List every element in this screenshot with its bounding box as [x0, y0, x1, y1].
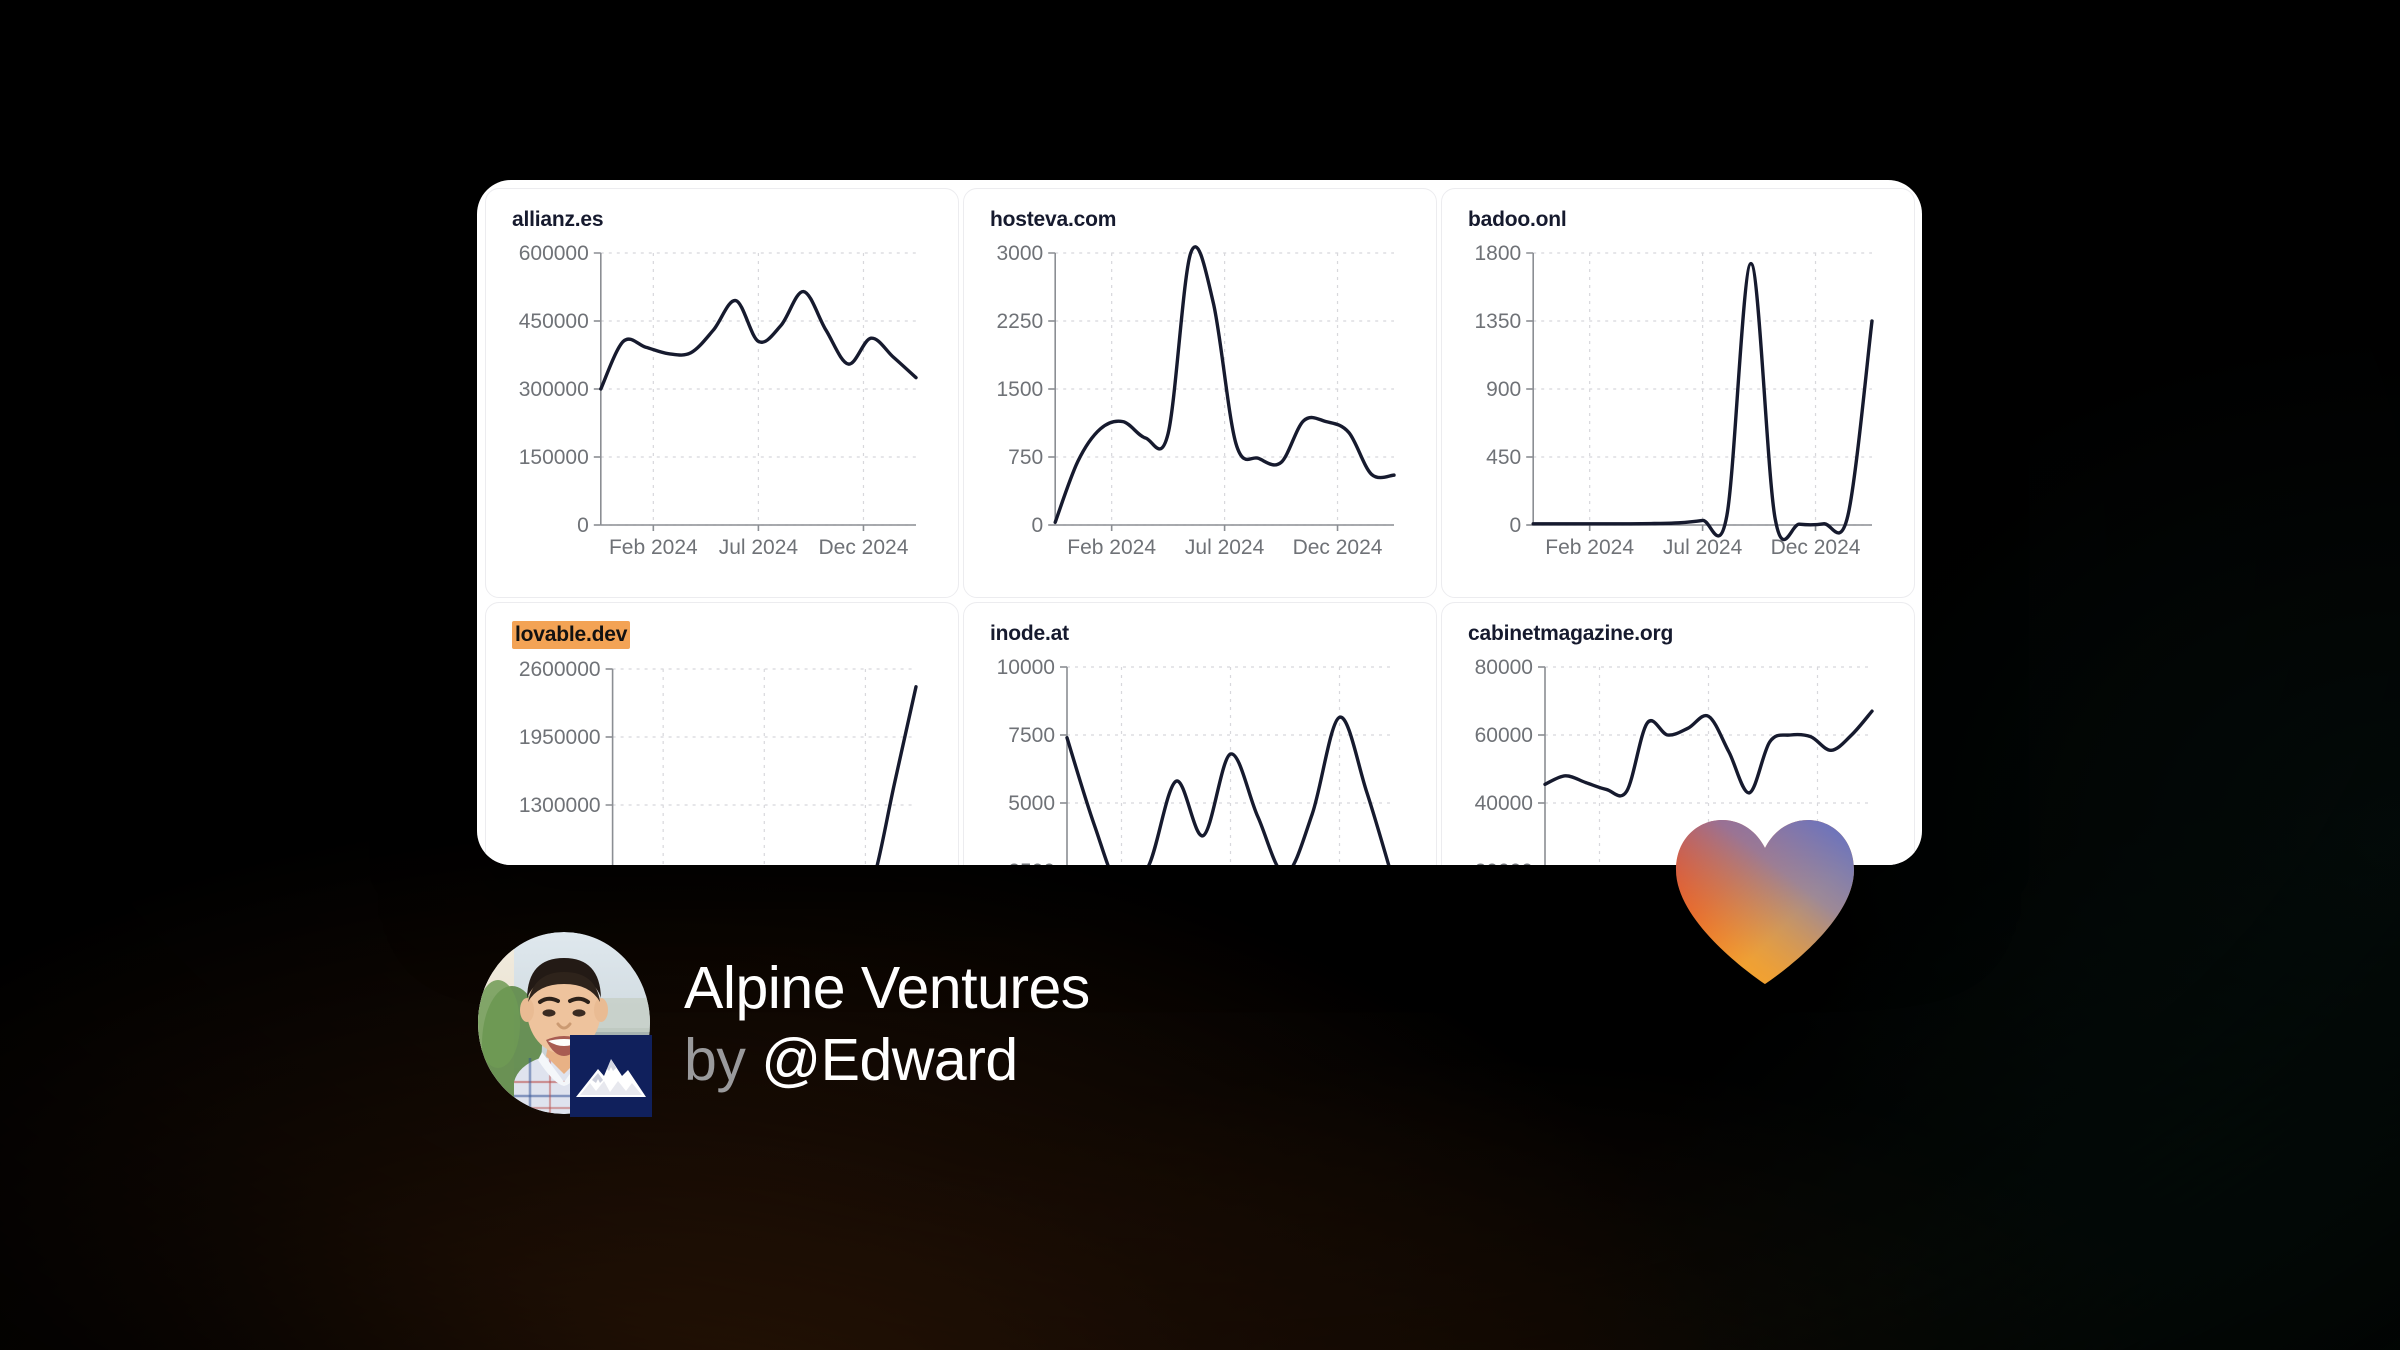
svg-text:60000: 60000 [1475, 724, 1533, 747]
svg-text:2500: 2500 [1008, 860, 1055, 865]
svg-text:Dec 2024: Dec 2024 [819, 536, 909, 559]
svg-text:Feb 2024: Feb 2024 [1545, 536, 1634, 559]
org-name: Alpine Ventures [684, 957, 1090, 1020]
chart-card[interactable]: inode.at25005000750010000Feb 2024Jul 202… [963, 602, 1437, 865]
svg-text:40000: 40000 [1475, 792, 1533, 815]
svg-text:1300000: 1300000 [519, 794, 601, 817]
byline: by @Edward [684, 1029, 1090, 1092]
chart-title: cabinetmagazine.org [1468, 621, 1673, 647]
svg-text:300000: 300000 [519, 378, 589, 401]
chart-card[interactable]: allianz.es0150000300000450000600000Feb 2… [485, 188, 959, 598]
handle: @Edward [761, 1027, 1017, 1093]
svg-text:2250: 2250 [996, 310, 1043, 333]
svg-text:Jul 2024: Jul 2024 [719, 536, 799, 559]
svg-text:450: 450 [1486, 446, 1521, 469]
chart-plot: 0150000300000450000600000Feb 2024Jul 202… [500, 241, 944, 571]
svg-text:1500: 1500 [996, 378, 1043, 401]
svg-text:900: 900 [1486, 378, 1521, 401]
svg-text:Dec 2024: Dec 2024 [1293, 536, 1383, 559]
svg-text:Jul 2024: Jul 2024 [1185, 536, 1265, 559]
by-word: by [684, 1027, 745, 1093]
svg-text:650000: 650000 [531, 862, 601, 865]
chart-plot: 045090013501800Feb 2024Jul 2024Dec 2024 [1456, 241, 1900, 571]
dashboard-panel: allianz.es0150000300000450000600000Feb 2… [477, 180, 1922, 865]
chart-grid: allianz.es0150000300000450000600000Feb 2… [477, 180, 1922, 865]
chart-title: allianz.es [512, 207, 603, 233]
svg-text:2600000: 2600000 [519, 658, 601, 681]
svg-text:1800: 1800 [1474, 242, 1521, 265]
svg-text:1350: 1350 [1474, 310, 1521, 333]
chart-plot: 25005000750010000Feb 2024Jul 2024Dec 202… [978, 655, 1422, 865]
chart-title: inode.at [990, 621, 1069, 647]
svg-text:1950000: 1950000 [519, 726, 601, 749]
svg-text:5000: 5000 [1008, 792, 1055, 815]
chart-title: hosteva.com [990, 207, 1116, 233]
chart-plot: 650000130000019500002600000Feb 2024Jul 2… [500, 657, 944, 865]
svg-text:3000: 3000 [996, 242, 1043, 265]
svg-text:0: 0 [1032, 514, 1044, 537]
svg-text:0: 0 [1510, 514, 1522, 537]
svg-text:750: 750 [1008, 446, 1043, 469]
svg-text:Jul 2024: Jul 2024 [1663, 536, 1743, 559]
heart-icon [1672, 818, 1858, 984]
svg-text:0: 0 [577, 514, 589, 537]
svg-text:150000: 150000 [519, 446, 589, 469]
chart-plot: 0750150022503000Feb 2024Jul 2024Dec 2024 [978, 241, 1422, 571]
mountain-logo [570, 1035, 652, 1117]
chart-title: lovable.dev [512, 621, 630, 649]
svg-text:7500: 7500 [1008, 724, 1055, 747]
footer-identity: Alpine Ventures by @Edward [470, 930, 1090, 1118]
chart-card[interactable]: badoo.onl045090013501800Feb 2024Jul 2024… [1441, 188, 1915, 598]
avatar-stack [470, 930, 648, 1118]
svg-text:450000: 450000 [519, 310, 589, 333]
svg-text:Feb 2024: Feb 2024 [1067, 536, 1156, 559]
chart-title: badoo.onl [1468, 207, 1567, 233]
chart-card[interactable]: hosteva.com0750150022503000Feb 2024Jul 2… [963, 188, 1437, 598]
chart-card[interactable]: lovable.dev650000130000019500002600000Fe… [485, 602, 959, 865]
svg-text:600000: 600000 [519, 242, 589, 265]
identity-text: Alpine Ventures by @Edward [684, 957, 1090, 1091]
svg-text:10000: 10000 [997, 656, 1055, 679]
svg-text:80000: 80000 [1475, 656, 1533, 679]
svg-text:Feb 2024: Feb 2024 [609, 536, 698, 559]
svg-text:20000: 20000 [1475, 860, 1533, 865]
